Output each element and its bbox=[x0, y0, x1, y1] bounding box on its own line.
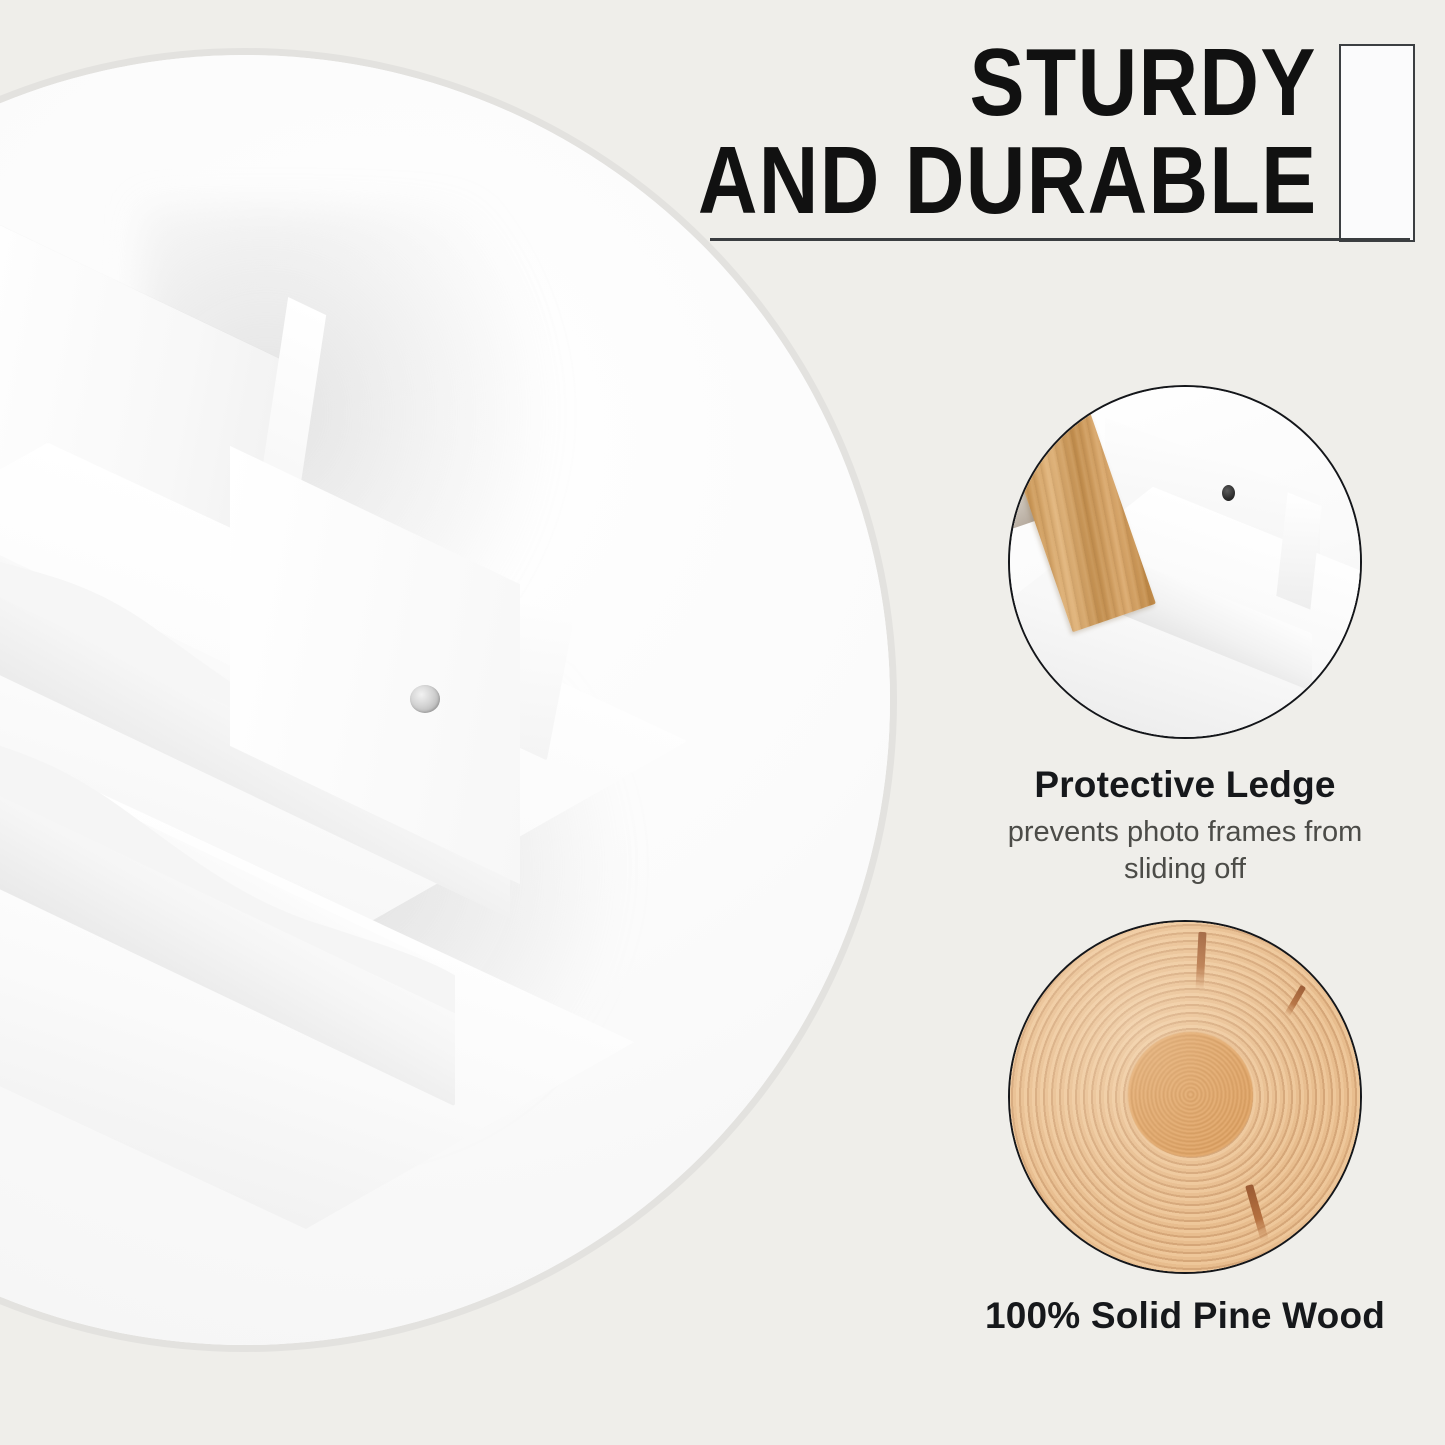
headline-line-1: STURDY bbox=[970, 34, 1317, 132]
feature-title: 100% Solid Pine Wood bbox=[975, 1296, 1395, 1337]
wall-screw-icon bbox=[410, 685, 440, 713]
headline-line-2: AND DURABLE bbox=[697, 132, 1317, 230]
feature-solid-pine-wood: 100% Solid Pine Wood bbox=[975, 920, 1395, 1337]
feature-subtitle: prevents photo frames from sliding off bbox=[975, 814, 1395, 888]
headline-underline bbox=[710, 238, 1410, 241]
feature-protective-ledge: Protective Ledge prevents photo frames f… bbox=[975, 385, 1395, 888]
mounting-screw-icon bbox=[1222, 485, 1235, 501]
protective-ledge-photo bbox=[1008, 385, 1362, 739]
headline-block: STURDY AND DURABLE bbox=[700, 34, 1415, 242]
hero-product-photo bbox=[0, 55, 890, 1345]
product-feature-graphic: STURDY AND DURABLE Protective Ledge prev… bbox=[0, 0, 1445, 1445]
feature-title: Protective Ledge bbox=[975, 765, 1395, 806]
wood-highlight-sheen bbox=[1010, 922, 1360, 1272]
feature-subtitle-line-2: sliding off bbox=[975, 851, 1395, 888]
pine-wood-cross-section-photo bbox=[1008, 920, 1362, 1274]
feature-subtitle-line-1: prevents photo frames from bbox=[975, 814, 1395, 851]
white-swatch-badge bbox=[1339, 44, 1415, 242]
